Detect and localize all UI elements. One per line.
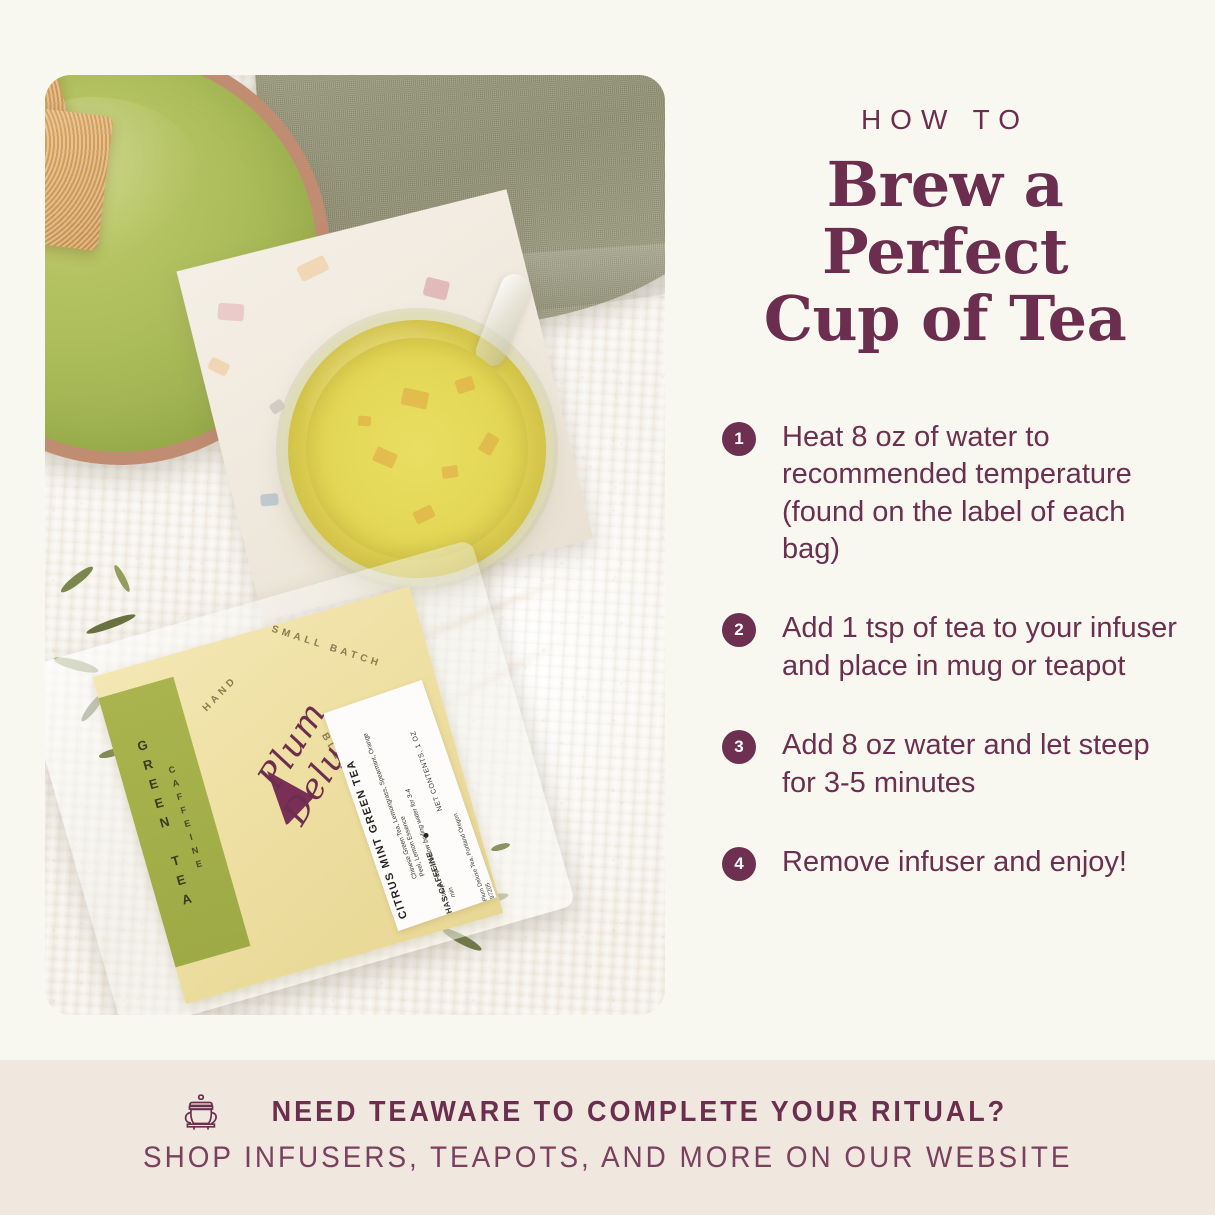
step-text: Add 1 tsp of tea to your infuser and pla… <box>782 610 1190 685</box>
page-title: Brew a Perfect Cup of Tea <box>700 152 1190 353</box>
footer-banner: NEED TEAWARE TO COMPLETE YOUR RITUAL? SH… <box>0 1060 1215 1215</box>
steps-list: 1 Heat 8 oz of water to recommended temp… <box>700 419 1190 882</box>
package-arc-hand: HAND <box>201 674 240 714</box>
step-number-badge: 2 <box>722 613 756 647</box>
step-text: Heat 8 oz of water to recommended temper… <box>782 419 1190 569</box>
main-content: GREEN TEA CAFFEINE HAND SMALL BATCH BLEN… <box>0 0 1215 1060</box>
step-item: 3 Add 8 oz water and let steep for 3-5 m… <box>722 727 1190 802</box>
hero-photo: GREEN TEA CAFFEINE HAND SMALL BATCH BLEN… <box>45 75 665 1015</box>
step-number-badge: 3 <box>722 730 756 764</box>
step-text: Remove infuser and enjoy! <box>782 844 1127 881</box>
footer-line-2: SHOP INFUSERS, TEAPOTS, AND MORE ON OUR … <box>143 1141 1072 1175</box>
kicker-label: HOW TO <box>700 104 1190 136</box>
footer-headline-row: NEED TEAWARE TO COMPLETE YOUR RITUAL? <box>180 1093 1035 1133</box>
page-title-line2: Cup of Tea <box>700 286 1190 353</box>
brewed-tea-liquid <box>306 338 528 560</box>
step-item: 1 Heat 8 oz of water to recommended temp… <box>722 419 1190 569</box>
step-number-badge: 1 <box>722 422 756 456</box>
step-item: 4 Remove infuser and enjoy! <box>722 844 1190 881</box>
teapot-icon <box>180 1093 222 1133</box>
instructions-column: HOW TO Brew a Perfect Cup of Tea 1 Heat … <box>700 0 1190 1060</box>
poster-root: GREEN TEA CAFFEINE HAND SMALL BATCH BLEN… <box>0 0 1215 1215</box>
page-title-line1: Brew a Perfect <box>822 148 1068 288</box>
step-text: Add 8 oz water and let steep for 3-5 min… <box>782 727 1190 802</box>
footer-line-1: NEED TEAWARE TO COMPLETE YOUR RITUAL? <box>272 1096 1007 1129</box>
glass-teacup <box>288 320 546 578</box>
step-number-badge: 4 <box>722 847 756 881</box>
step-item: 2 Add 1 tsp of tea to your infuser and p… <box>722 610 1190 685</box>
